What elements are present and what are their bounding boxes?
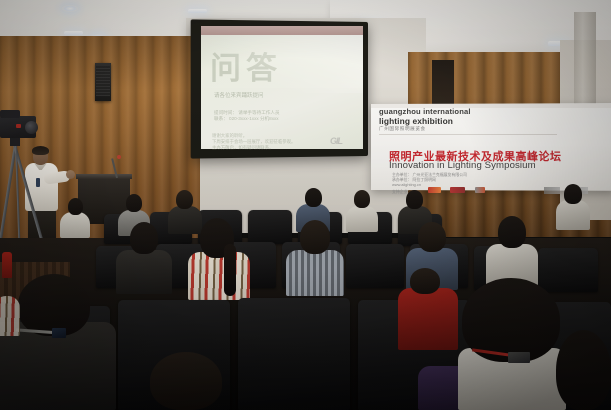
seat — [346, 244, 404, 288]
banner-fine-print: www.alighting.cn — [392, 182, 421, 187]
seat — [238, 298, 350, 410]
audience-head — [300, 220, 330, 254]
audience-head — [564, 184, 582, 204]
audience-person — [398, 288, 458, 350]
audience-head — [305, 188, 322, 207]
fire-extinguisher-icon — [2, 252, 12, 278]
audience-head — [410, 268, 440, 294]
banner-divider — [379, 134, 557, 135]
slide-body-line: 联系： 020-3xxx-1xxx 分机8xxx — [214, 116, 340, 122]
conference-photo: 问答 请各位来宾踊跃提问 提问时间： 请举手等待工作人员 联系： 020-3xx… — [0, 0, 611, 410]
sponsor-logo-icon — [450, 187, 465, 193]
audience-head — [126, 194, 142, 212]
screen-glare — [201, 35, 363, 93]
badge-card — [508, 352, 530, 363]
podium-top — [76, 174, 132, 179]
downlight-icon — [188, 9, 207, 13]
audience-person — [60, 212, 90, 238]
audience-head — [18, 274, 90, 336]
slide-footer-line: 主办方敬启，如有疑问请联系。 — [212, 145, 332, 151]
slide-body: 提问时间： 请举手等待工作人员 联系： 020-3xxx-1xxx 分机8xxx — [214, 110, 340, 123]
audience-head — [406, 190, 423, 209]
banner-sponsor-logos — [428, 187, 494, 194]
seat — [248, 210, 292, 244]
audience-person — [168, 206, 202, 234]
speaker-hand — [66, 170, 75, 179]
audience-person — [0, 296, 20, 336]
audience-person — [188, 252, 250, 300]
slide-footer: 谢谢大家的聆听。 下周安排于会场一层展厅，欢迎莅临参观。 主办方敬启，如有疑问请… — [212, 133, 332, 151]
audience-head — [556, 330, 611, 410]
partner-logo-icon — [544, 187, 560, 194]
camera-record-light — [16, 124, 21, 128]
camera-hood — [0, 110, 20, 118]
audience-head — [418, 222, 446, 252]
sponsor-logo-icon — [428, 187, 441, 193]
speaker-badge — [36, 178, 40, 187]
audience-ponytail — [224, 244, 236, 296]
audience-person — [346, 206, 378, 232]
audience-head — [130, 222, 158, 254]
audience-head — [150, 352, 222, 410]
slide-subtitle: 请各位来宾踊跃提问 — [214, 92, 332, 100]
camera-lens-icon — [25, 121, 38, 134]
badge-card — [52, 328, 66, 338]
downlight-icon — [64, 31, 83, 35]
audience-head — [498, 216, 526, 248]
projection-screen-valance — [201, 26, 363, 35]
audience-person — [116, 250, 172, 294]
seat — [538, 248, 598, 292]
slide-logo: GIL — [330, 136, 362, 150]
audience-person — [286, 250, 344, 296]
banner-org-line2: lighting exhibition — [379, 116, 453, 126]
audience-head — [176, 190, 193, 209]
microphone-icon — [117, 155, 121, 159]
audience-head — [68, 198, 83, 215]
audience-head — [354, 190, 370, 208]
audience-person — [556, 200, 590, 230]
wall-speaker-grille — [96, 66, 110, 96]
sponsor-logo-icon — [475, 187, 485, 193]
banner-org-line-cn: 广州国际照明展览会 — [379, 126, 426, 132]
speaker-hair — [32, 146, 49, 155]
banner-headline-en: Innovation in Lighting Symposium — [389, 160, 536, 171]
banner-org-line1: guangzhou international — [379, 107, 471, 116]
tripod-head — [10, 138, 20, 146]
downlight-icon — [62, 5, 78, 12]
